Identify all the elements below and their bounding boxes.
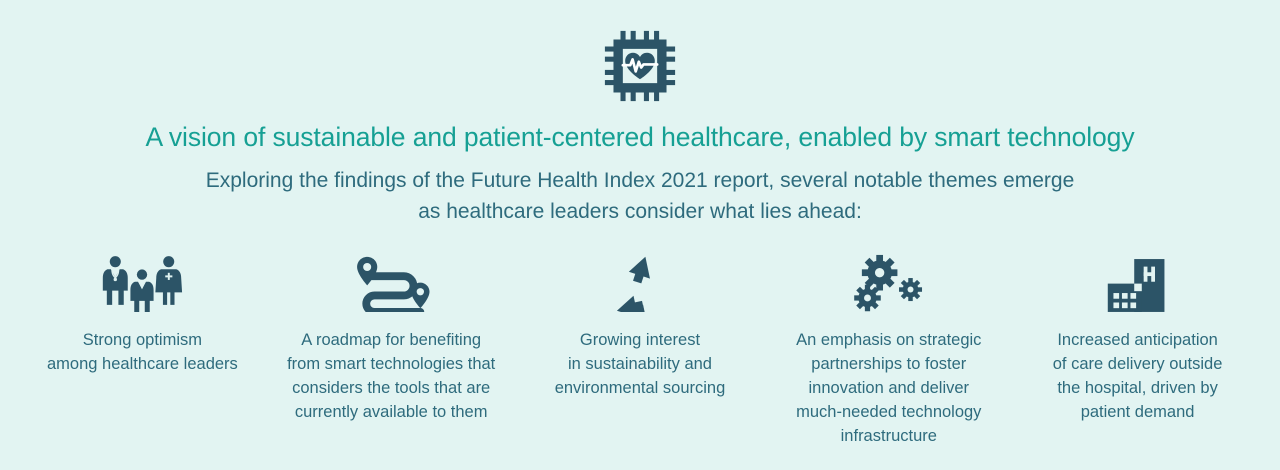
caption-line: the hospital, driven by <box>1053 377 1223 401</box>
theme-item-optimism: Strong optimism among healthcare leaders <box>18 250 267 377</box>
subtitle-line-2: as healthcare leaders consider what lies… <box>206 197 1075 227</box>
theme-item-partnerships: An emphasis on strategic partnerships to… <box>764 250 1013 449</box>
caption-line: considers the tools that are <box>287 377 495 401</box>
caption-line: Strong optimism <box>47 329 238 353</box>
caption-line: much-needed technology <box>796 401 981 425</box>
theme-caption: A roadmap for benefiting from smart tech… <box>287 329 495 425</box>
caption-line: innovation and deliver <box>796 377 981 401</box>
roadmap-route-pins-icon <box>347 250 435 312</box>
subtitle: Exploring the findings of the Future Hea… <box>206 166 1075 227</box>
caption-line: infrastructure <box>796 425 981 449</box>
caption-line: A roadmap for benefiting <box>287 329 495 353</box>
themes-row: Strong optimism among healthcare leaders <box>0 250 1280 449</box>
hospital-building-icon <box>1104 250 1172 312</box>
caption-line: patient demand <box>1053 401 1223 425</box>
theme-item-roadmap: A roadmap for benefiting from smart tech… <box>267 250 516 425</box>
caption-line: currently available to them <box>287 401 495 425</box>
theme-item-care-outside-hospital: Increased anticipation of care delivery … <box>1013 250 1262 425</box>
theme-caption: Strong optimism among healthcare leaders <box>47 329 238 377</box>
caption-line: partnerships to foster <box>796 353 981 377</box>
caption-line: of care delivery outside <box>1053 353 1223 377</box>
theme-caption: An emphasis on strategic partnerships to… <box>796 329 981 449</box>
caption-line: environmental sourcing <box>555 377 726 401</box>
gears-icon <box>853 250 925 312</box>
people-group-icon <box>92 250 192 312</box>
caption-line: in sustainability and <box>555 353 726 377</box>
microchip-heart-icon <box>601 27 679 105</box>
recycle-icon <box>609 250 671 312</box>
theme-caption: Increased anticipation of care delivery … <box>1053 329 1223 425</box>
page-title: A vision of sustainable and patient-cent… <box>146 122 1135 152</box>
caption-line: Growing interest <box>555 329 726 353</box>
caption-line: from smart technologies that <box>287 353 495 377</box>
subtitle-line-1: Exploring the findings of the Future Hea… <box>206 166 1075 196</box>
caption-line: among healthcare leaders <box>47 353 238 377</box>
caption-line: Increased anticipation <box>1053 329 1223 353</box>
caption-line: An emphasis on strategic <box>796 329 981 353</box>
infographic-root: A vision of sustainable and patient-cent… <box>0 0 1280 470</box>
theme-caption: Growing interest in sustainability and e… <box>555 329 726 401</box>
theme-item-sustainability: Growing interest in sustainability and e… <box>516 250 765 401</box>
